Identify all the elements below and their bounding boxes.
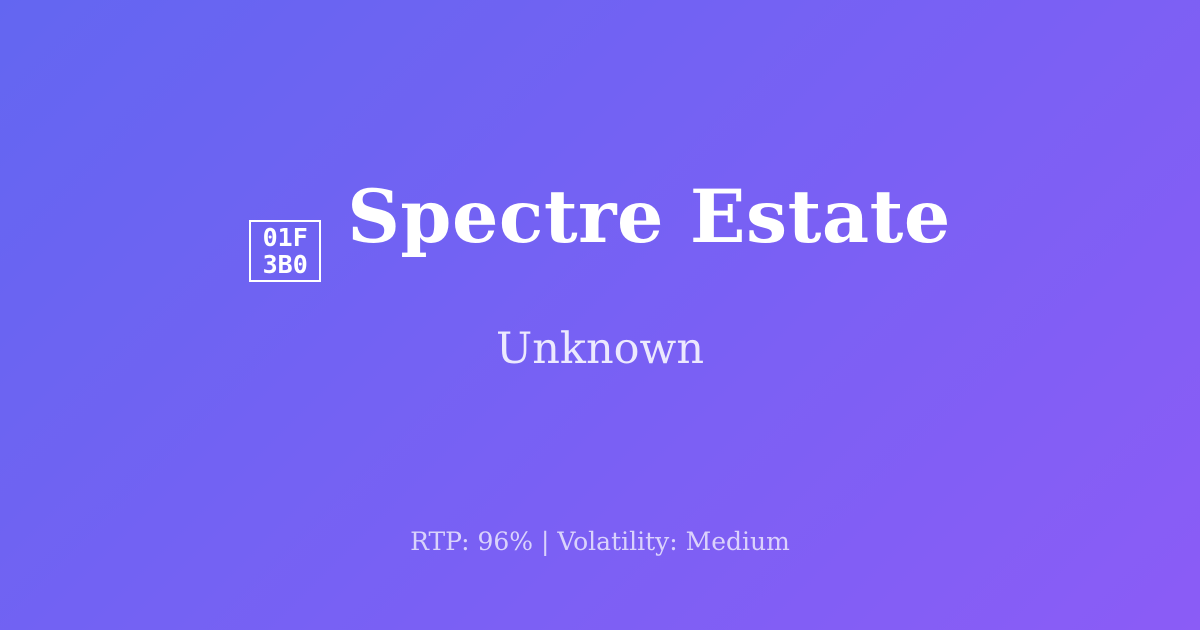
emoji-codepoint-top: 01F: [263, 224, 308, 251]
game-stats-footer: RTP: 96% | Volatility: Medium: [0, 527, 1200, 557]
og-share-card: 01F 3B0 Spectre Estate Unknown RTP: 96% …: [0, 0, 1200, 630]
slot-machine-icon: 01F 3B0: [249, 220, 321, 282]
subtitle-provider: Unknown: [496, 326, 704, 373]
emoji-codepoint-bottom: 3B0: [263, 251, 308, 278]
hero-block: 01F 3B0 Spectre Estate Unknown: [249, 180, 951, 373]
title-row: 01F 3B0 Spectre Estate: [249, 180, 951, 278]
page-title: Spectre Estate: [347, 180, 951, 256]
